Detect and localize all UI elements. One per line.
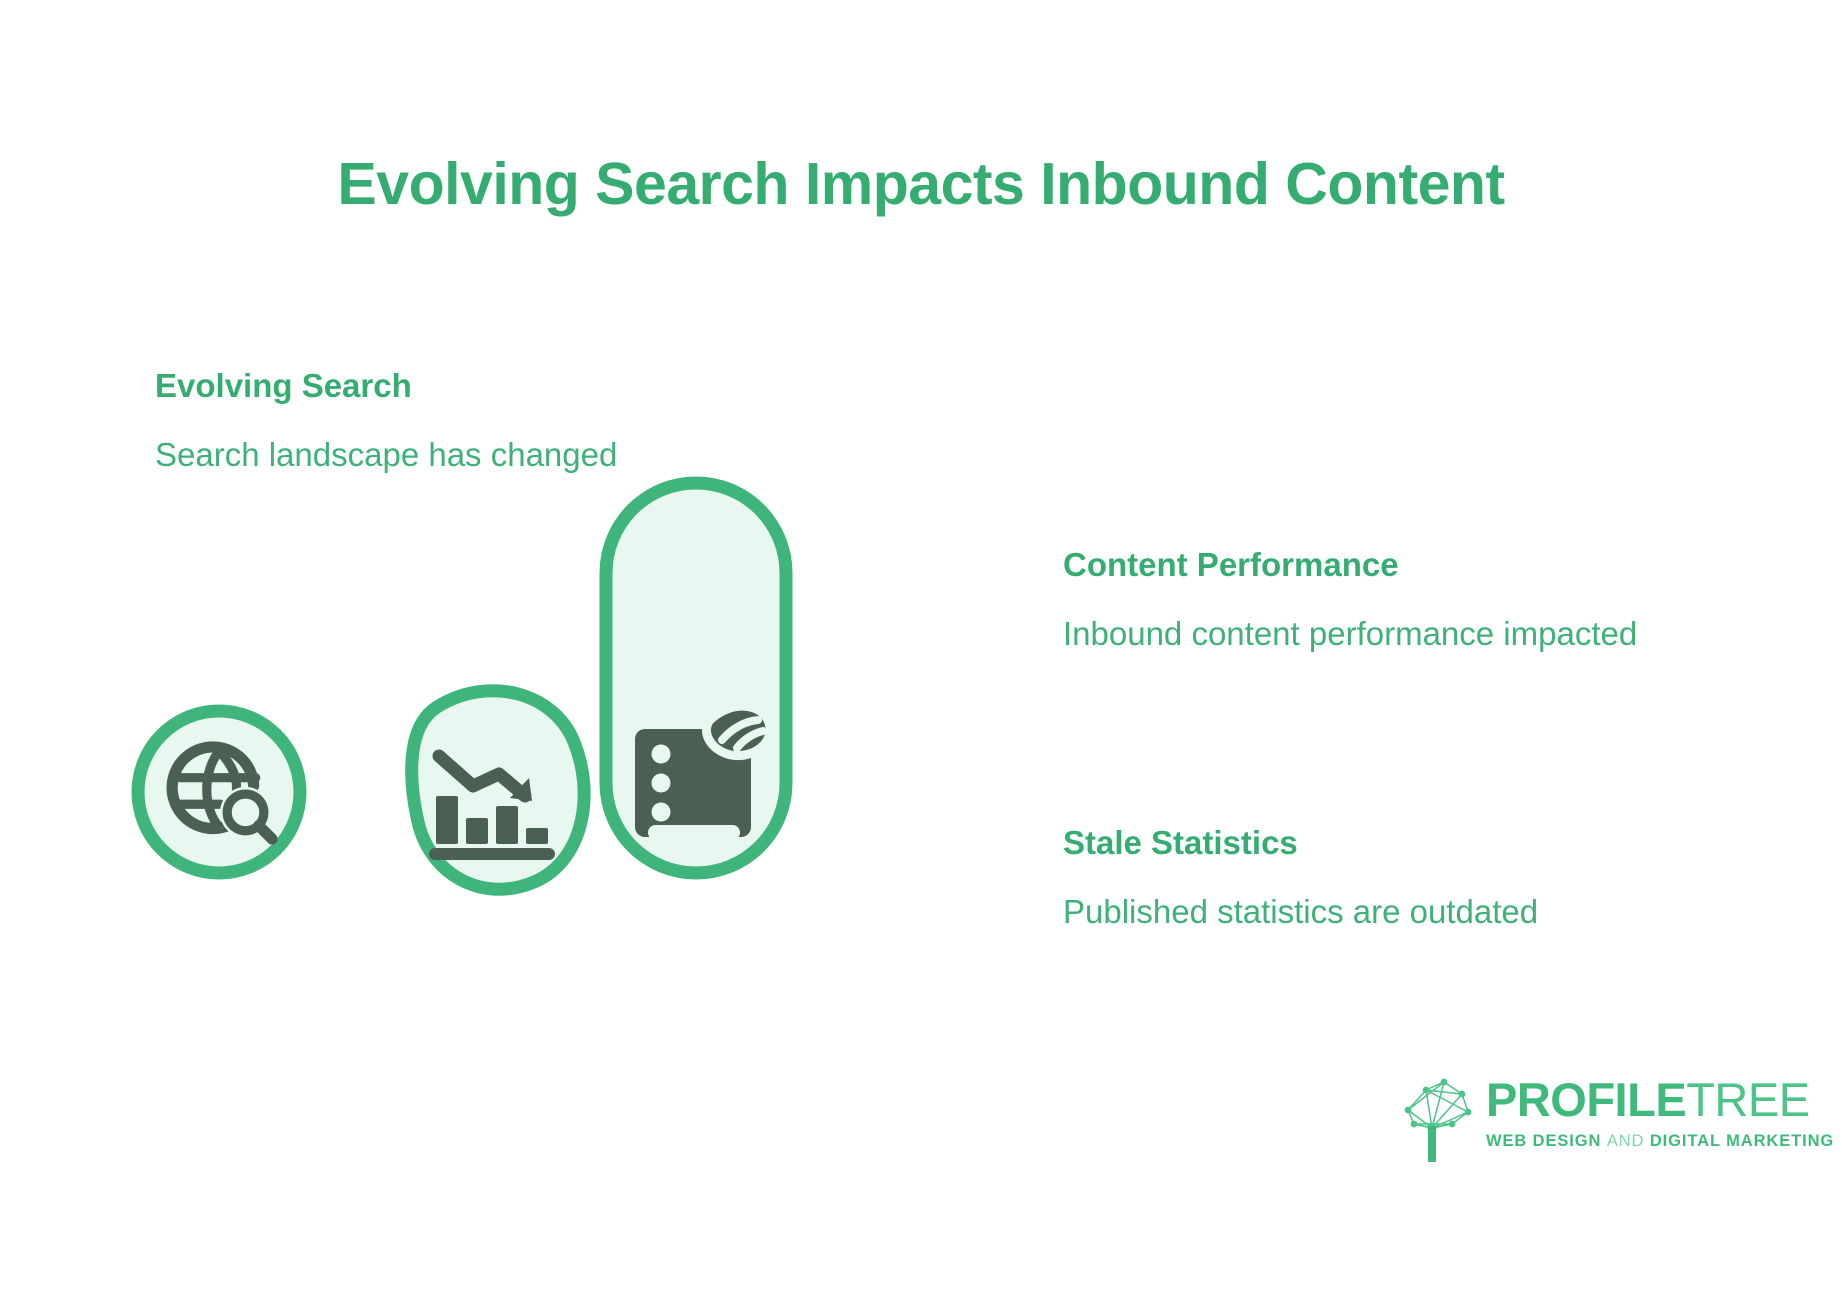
tagline-web-design: WEB DESIGN [1486,1132,1601,1150]
text-block-stale-statistics: Stale Statistics Published statistics ar… [1063,823,1763,934]
body-stale-statistics: Published statistics are outdated [1063,889,1763,935]
globe-circle-outline [138,711,300,873]
profiletree-logo: PROFILETREE WEB DESIGN AND DIGITAL MARKE… [1398,1072,1738,1180]
logo-word-tree: TREE [1686,1073,1809,1126]
network-tree-mark [1398,1072,1476,1164]
shape-content-pill [606,483,786,873]
logo-wordmark: PROFILETREE [1486,1076,1834,1123]
tagline-digital-marketing: DIGITAL MARKETING [1650,1132,1834,1150]
heading-stale-statistics: Stale Statistics [1063,823,1763,863]
logo-word-profile: PROFILE [1486,1073,1686,1126]
text-block-content-performance: Content Performance Inbound content perf… [1063,545,1703,656]
shape-declining-chart-blob [412,691,584,890]
page-title: Evolving Search Impacts Inbound Content [0,152,1842,217]
icon-shape-cluster [130,470,940,980]
text-block-evolving-search: Evolving Search Search landscape has cha… [155,366,625,477]
body-content-performance: Inbound content performance impacted [1063,611,1703,657]
heading-content-performance: Content Performance [1063,545,1703,585]
logo-tagline: WEB DESIGN AND DIGITAL MARKETING [1486,1133,1834,1150]
shape-globe-search-circle [138,711,300,873]
heading-evolving-search: Evolving Search [155,366,625,406]
tagline-and-word: AND [1607,1132,1645,1150]
